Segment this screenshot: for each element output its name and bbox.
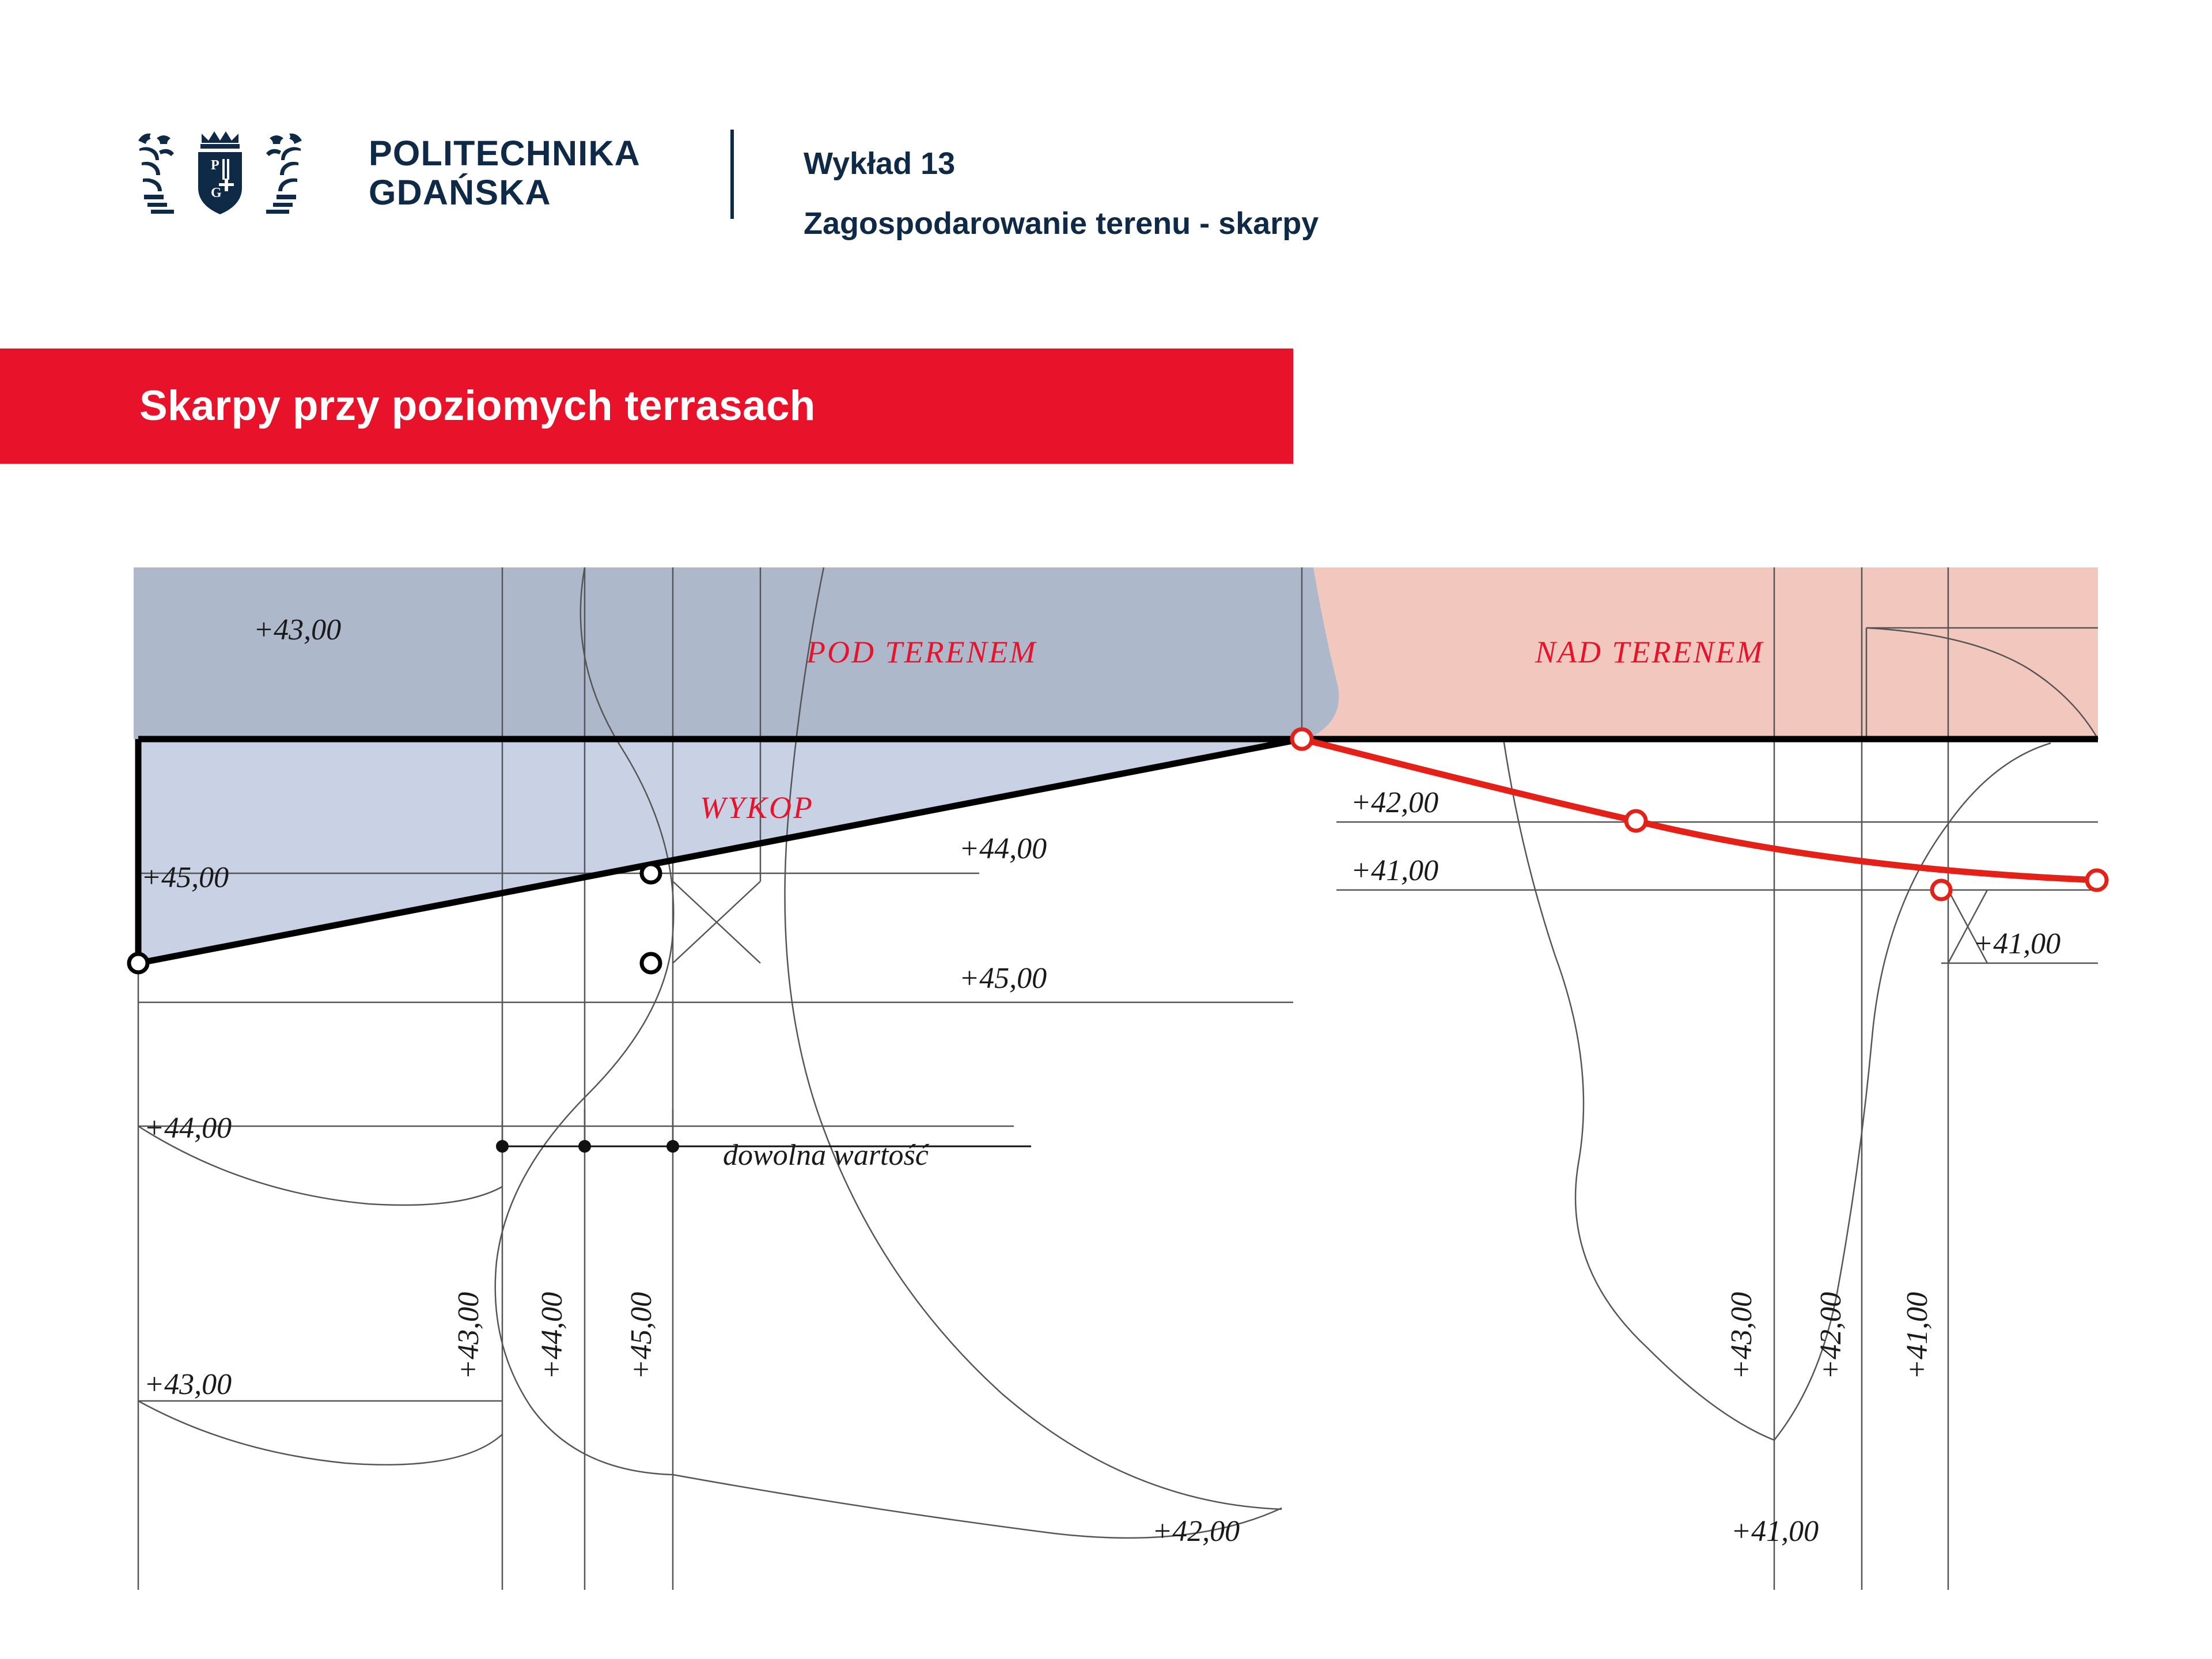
- elevation-label: +41,00: [1731, 1515, 1819, 1548]
- elevation-label: +42,00: [1152, 1515, 1240, 1548]
- elevation-label: +45,00: [959, 962, 1047, 995]
- vertical-elevation-label: +41,00: [1901, 1292, 1934, 1380]
- vertical-elevation-label: +42,00: [1815, 1292, 1847, 1380]
- label-above-terrain: NAD TERENEM: [1535, 635, 1764, 669]
- vertical-elevation-label: +44,00: [536, 1292, 569, 1380]
- label-excavation: WYKOP: [700, 790, 814, 825]
- arbitrary-value-label: dowolna wartość: [723, 1139, 930, 1172]
- elevation-label: +41,00: [1973, 927, 2061, 960]
- elevation-label: +44,00: [144, 1112, 232, 1145]
- terrain-diagram: POD TERENEM NAD TERENEM WYKOP +43,00 +45…: [0, 0, 2212, 1659]
- elevation-label: +43,00: [253, 613, 341, 646]
- elevation-label: +42,00: [1351, 786, 1438, 819]
- elevation-label: +41,00: [1351, 854, 1438, 887]
- region-under-terrain-fill: [134, 567, 1302, 739]
- vertical-elevation-label: +43,00: [452, 1292, 485, 1380]
- label-under-terrain: POD TERENEM: [806, 635, 1037, 669]
- vertical-elevation-label: +45,00: [625, 1292, 658, 1380]
- elevation-label: +44,00: [959, 832, 1047, 865]
- vertical-elevation-label: +43,00: [1725, 1292, 1758, 1380]
- elevation-label: +45,00: [141, 861, 229, 894]
- slide-page: P G POLITECHNIKA GDAŃSKA Wykład 13 Zagos…: [0, 0, 2212, 1659]
- elevation-label: +43,00: [144, 1368, 232, 1401]
